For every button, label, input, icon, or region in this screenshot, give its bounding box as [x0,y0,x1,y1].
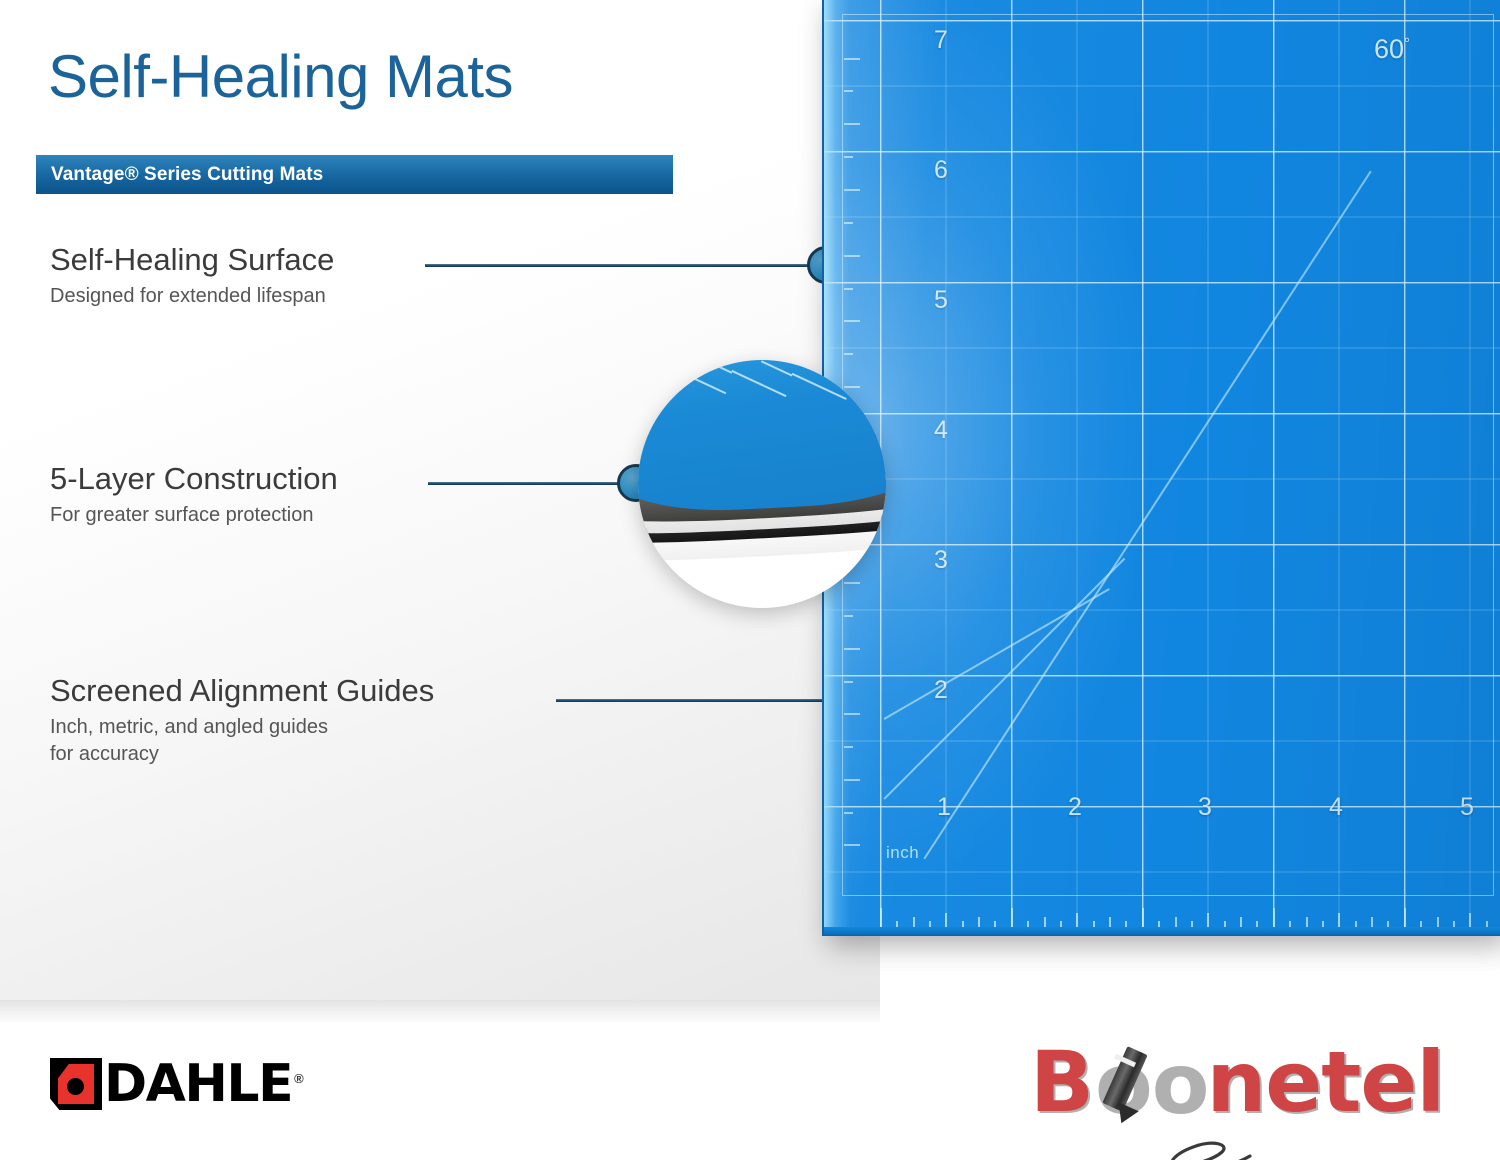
mat-layer-blue-surface: inch [638,360,886,516]
feature-title: Screened Alignment Guides [50,675,434,708]
degree-symbol: ° [1404,35,1410,52]
feature-title: Self-Healing Surface [50,244,334,277]
mat-unit-label-bottom: inch [886,843,919,863]
mat-vertical-number: 2 [934,676,948,705]
dahle-registered-mark: ® [294,1071,302,1086]
dahle-mark-hole [67,1078,84,1095]
bonetel-wordmark: Boonetel [1030,1040,1444,1124]
dahle-wordmark-text: DAHLE [104,1054,292,1114]
feature-self-healing-surface: Self-Healing Surface Designed for extend… [50,244,334,310]
mat-vertical-number: 5 [934,286,948,315]
mat-bottom-edge [824,927,1500,936]
magnifier-unit-label: inch [657,360,684,366]
cutting-mat-image: 7 6 5 4 3 2 60° 1 2 3 4 5 inch [822,0,1500,936]
subtitle-text: Vantage® Series Cutting Mats [36,164,323,186]
feature-screened-alignment-guides: Screened Alignment Guides Inch, metric, … [50,675,434,768]
mat-horizontal-number: 4 [1329,793,1343,822]
mat-ruler-frame [842,14,1494,896]
mat-horizontal-number: 5 [1460,793,1474,822]
dahle-wordmark: DAHLE® [104,1058,302,1110]
dahle-mark-icon [50,1058,102,1110]
feature-description: For greater surface protection [50,502,338,529]
mat-bottom-ruler [824,896,1500,930]
feature-description: Inch, metric, and angled guides for accu… [50,714,434,768]
angle-value: 60 [1374,34,1404,64]
scribble-icon [1126,1118,1286,1160]
mat-vertical-number: 3 [934,546,948,575]
bonetel-letter-b: B [1030,1033,1093,1131]
mat-horizontal-number: 1 [937,793,951,822]
mat-horizontal-number: 2 [1068,793,1082,822]
page-title: Self-Healing Mats [48,42,513,111]
infographic-page: Self-Healing Mats Vantage® Series Cuttin… [0,0,1500,1160]
feature-5-layer-construction: 5-Layer Construction For greater surface… [50,463,338,529]
mat-vertical-number: 7 [934,26,948,55]
layer-magnifier-circle: inch [638,360,886,608]
mat-vertical-number: 6 [934,156,948,185]
leader-line-1 [425,264,825,267]
dahle-logo: DAHLE® [50,1058,302,1110]
leader-line-2 [428,482,623,485]
subtitle-banner: Vantage® Series Cutting Mats [36,155,673,194]
mat-horizontal-number: 3 [1198,793,1212,822]
bonetel-watermark: Boonetel [1030,1040,1390,1150]
feature-title: 5-Layer Construction [50,463,338,496]
angle-label-60: 60° [1374,34,1410,65]
bonetel-text-rest: netel [1206,1033,1444,1131]
mat-vertical-number: 4 [934,416,948,445]
mat-surface: 7 6 5 4 3 2 60° 1 2 3 4 5 inch [822,0,1500,936]
feature-description: Designed for extended lifespan [50,283,334,310]
